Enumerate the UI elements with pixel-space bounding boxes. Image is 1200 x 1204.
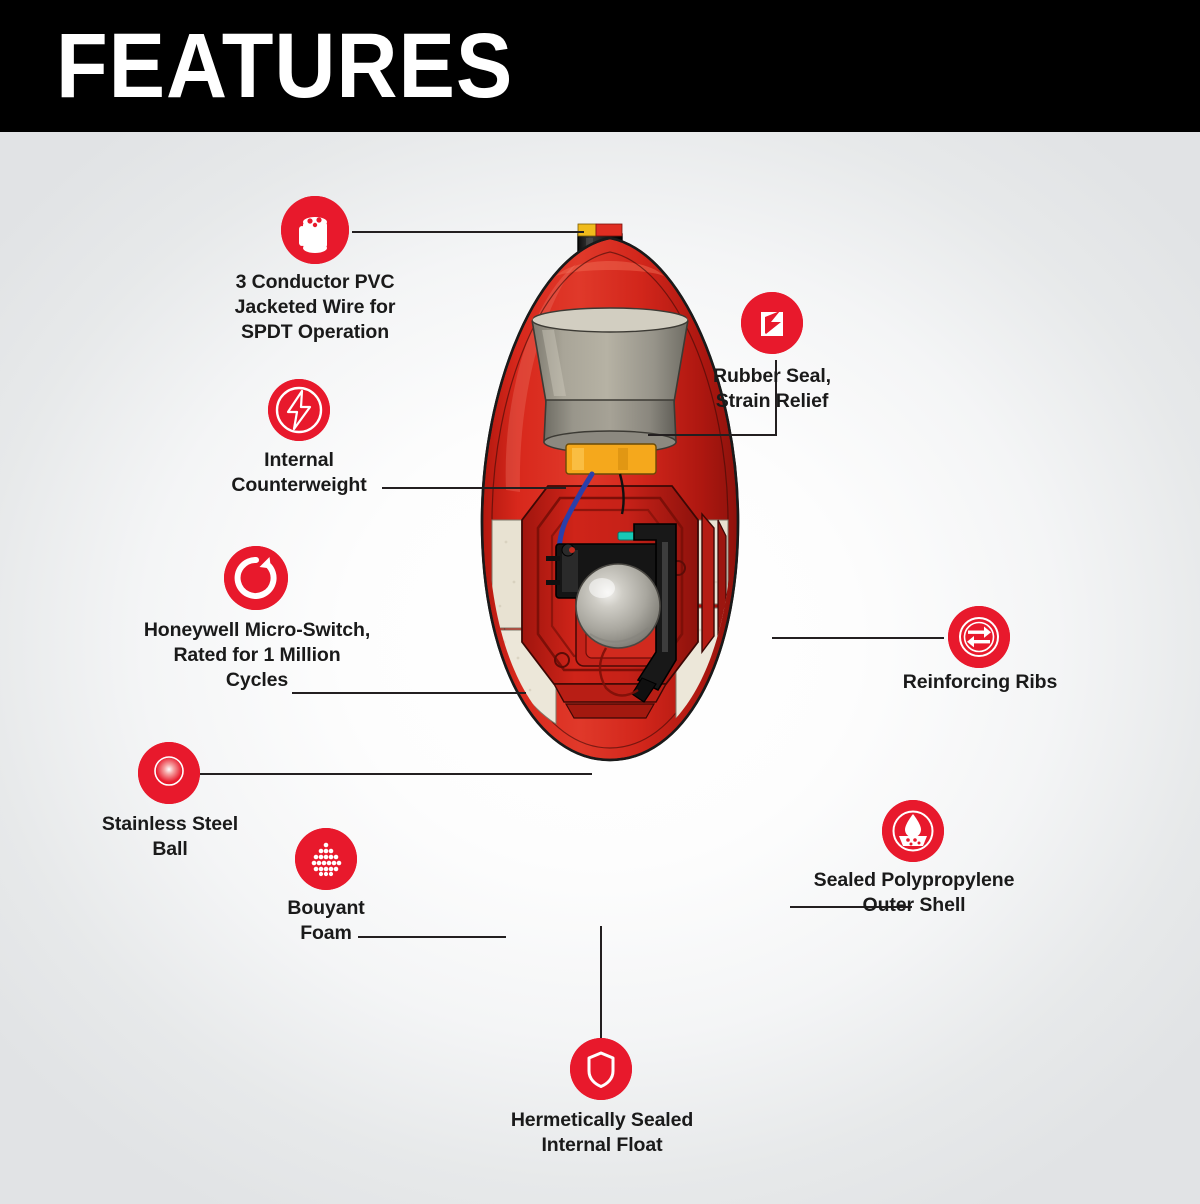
features-diagram-page: FEATURES	[0, 0, 1200, 1204]
folded-seal-icon	[741, 292, 803, 354]
callout-label-buoyant-foam: Bouyant Foam	[254, 896, 398, 946]
callout-label-rubber-seal: Rubber Seal, Strain Relief	[682, 364, 862, 414]
leader-line-internal-float	[600, 926, 602, 1038]
callout-label-internal-float: Hermetically Sealed Internal Float	[482, 1108, 722, 1158]
leader-line-conductor-wire	[352, 231, 584, 233]
leader-line-rubber-seal-h	[648, 434, 776, 436]
callout-label-conductor-wire: 3 Conductor PVC Jacketed Wire for SPDT O…	[205, 270, 425, 345]
leader-line-steel-ball	[200, 773, 592, 775]
foam-dots-icon	[295, 828, 357, 890]
callout-label-internal-counterweight: Internal Counterweight	[196, 448, 402, 498]
callout-label-steel-ball: Stainless Steel Ball	[82, 812, 258, 862]
leader-line-reinforcing-ribs	[772, 637, 944, 639]
sphere-icon	[138, 742, 200, 804]
cable-spool-icon	[281, 196, 349, 264]
callout-label-reinforcing-ribs: Reinforcing Ribs	[884, 670, 1076, 695]
internal-counterweight	[532, 308, 688, 453]
shield-icon	[570, 1038, 632, 1100]
double-arrow-icon	[948, 606, 1010, 668]
terminal-block	[566, 444, 656, 474]
header-bar: FEATURES	[0, 0, 1200, 132]
cycle-arrow-icon	[224, 546, 288, 610]
page-title: FEATURES	[56, 20, 513, 112]
leader-line-counterweight	[382, 487, 566, 489]
lightning-bolt-icon	[268, 379, 330, 441]
callout-label-outer-shell: Sealed Polypropylene Outer Shell	[792, 868, 1036, 918]
water-droplet-icon	[882, 800, 944, 862]
stainless-steel-ball	[576, 564, 660, 648]
callout-label-micro-switch: Honeywell Micro-Switch, Rated for 1 Mill…	[122, 618, 392, 693]
